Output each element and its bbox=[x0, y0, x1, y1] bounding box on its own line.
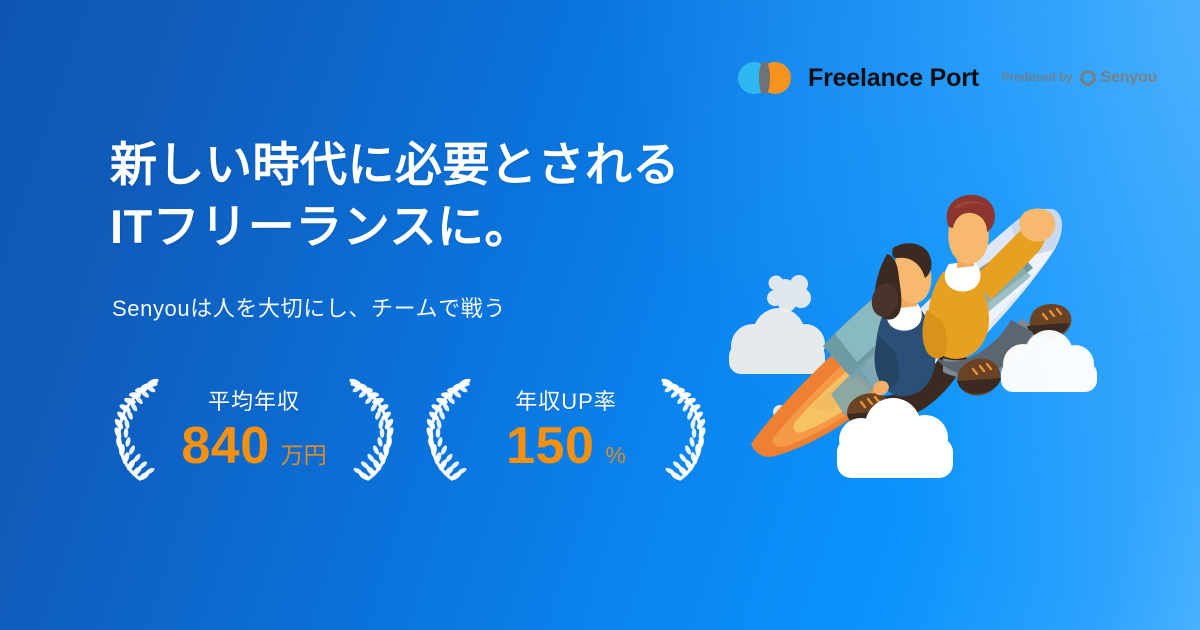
stat-value-row: 840 万円 bbox=[181, 420, 326, 472]
brand-wordmark: Freelance Port bbox=[808, 64, 979, 93]
senyou-brand-name: Senyou bbox=[1101, 69, 1158, 87]
headline-line-2: ITフリーランスに。 bbox=[110, 196, 680, 258]
senyou-ring-icon bbox=[1080, 70, 1096, 86]
laurel-wreath-icon-right bbox=[658, 378, 708, 485]
person-right-fist bbox=[1019, 209, 1055, 242]
stat-number: 150 bbox=[506, 420, 594, 472]
stat-average-income: 平均年収 840 万円 bbox=[108, 374, 400, 489]
stats-group: 平均年収 840 万円 bbox=[108, 374, 712, 489]
two-people-riding-rocket-illustration bbox=[715, 150, 1115, 510]
stat-label: 平均年収 bbox=[208, 391, 300, 413]
stat-income-up-rate: 年収UP率 150 % bbox=[420, 374, 712, 489]
stat-label: 年収UP率 bbox=[515, 391, 617, 413]
produced-by-credit: Produced by Senyou bbox=[1002, 69, 1157, 87]
laurel-wreath-icon-right bbox=[346, 378, 396, 485]
stat-unit: % bbox=[605, 444, 625, 467]
page-subtitle: Senyouは人を大切にし、チームで戦う bbox=[112, 291, 506, 323]
brand-logo-bar[interactable]: Freelance Port Produced by Senyou bbox=[738, 59, 1157, 97]
headline-line-1: 新しい時代に必要とされる bbox=[110, 134, 680, 196]
produced-by-label: Produced by bbox=[1002, 72, 1073, 84]
hero-banner: Freelance Port Produced by Senyou 新しい時代に… bbox=[0, 0, 1200, 630]
logo-circle-overlap bbox=[759, 62, 770, 94]
page-title: 新しい時代に必要とされる ITフリーランスに。 bbox=[110, 134, 680, 258]
laurel-wreath-icon-left bbox=[424, 378, 474, 485]
stat-unit: 万円 bbox=[281, 444, 327, 467]
stat-value-row: 150 % bbox=[506, 420, 626, 472]
two-overlapping-circles-logo-icon bbox=[738, 59, 802, 97]
stat-number: 840 bbox=[181, 420, 269, 472]
laurel-wreath-icon-left bbox=[112, 378, 162, 485]
